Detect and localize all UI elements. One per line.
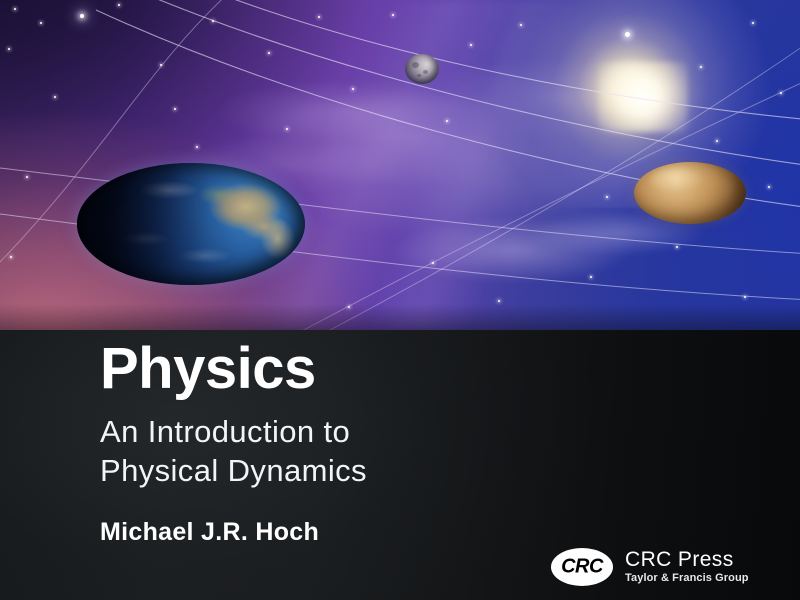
star <box>590 276 592 278</box>
book-cover: Physics An Introduction to Physical Dyna… <box>0 0 800 600</box>
star <box>606 196 608 198</box>
book-subtitle-line-1: An Introduction to <box>100 412 367 451</box>
cover-artwork <box>0 0 800 330</box>
star <box>392 14 394 16</box>
star <box>780 92 782 94</box>
book-title: Physics <box>100 340 316 398</box>
star <box>80 14 84 18</box>
brown-planet-highlight <box>650 168 704 192</box>
star <box>26 176 28 178</box>
star <box>352 88 354 90</box>
publisher-tagline: Taylor & Francis Group <box>625 572 749 585</box>
gray-moon <box>405 54 439 84</box>
artwork-bottom-fade <box>0 304 800 330</box>
crc-logo-mark-text: CRC <box>561 555 603 578</box>
star <box>446 120 448 122</box>
star <box>700 66 702 68</box>
publisher-logo-text: CRC Press Taylor & Francis Group <box>625 549 749 585</box>
star <box>196 146 198 148</box>
star <box>744 296 746 298</box>
star <box>716 140 718 142</box>
moon-crater <box>417 74 421 77</box>
star <box>768 186 770 188</box>
star <box>160 64 162 66</box>
crc-logo-icon: CRC <box>551 548 613 586</box>
star <box>286 128 288 130</box>
star <box>54 96 56 98</box>
star <box>752 22 754 24</box>
star <box>118 4 120 6</box>
star <box>268 52 270 54</box>
moon-crater <box>423 70 428 74</box>
book-subtitle-line-2: Physical Dynamics <box>100 451 367 490</box>
star <box>10 256 12 258</box>
star <box>318 16 320 18</box>
star <box>432 262 434 264</box>
star <box>174 108 176 110</box>
star <box>498 300 500 302</box>
book-subtitle: An Introduction to Physical Dynamics <box>100 412 367 490</box>
star <box>8 48 10 50</box>
book-author: Michael J.R. Hoch <box>100 518 319 547</box>
star <box>212 20 214 22</box>
moon-crater <box>412 62 419 68</box>
star <box>520 24 522 26</box>
publisher-logo: CRC CRC Press Taylor & Francis Group <box>551 543 791 591</box>
star <box>676 246 678 248</box>
earth-rim-shadow <box>77 163 305 285</box>
star <box>625 32 630 37</box>
star <box>470 44 472 46</box>
star <box>40 22 42 24</box>
earth <box>77 163 305 285</box>
star <box>14 8 16 10</box>
publisher-name: CRC Press <box>625 549 749 571</box>
